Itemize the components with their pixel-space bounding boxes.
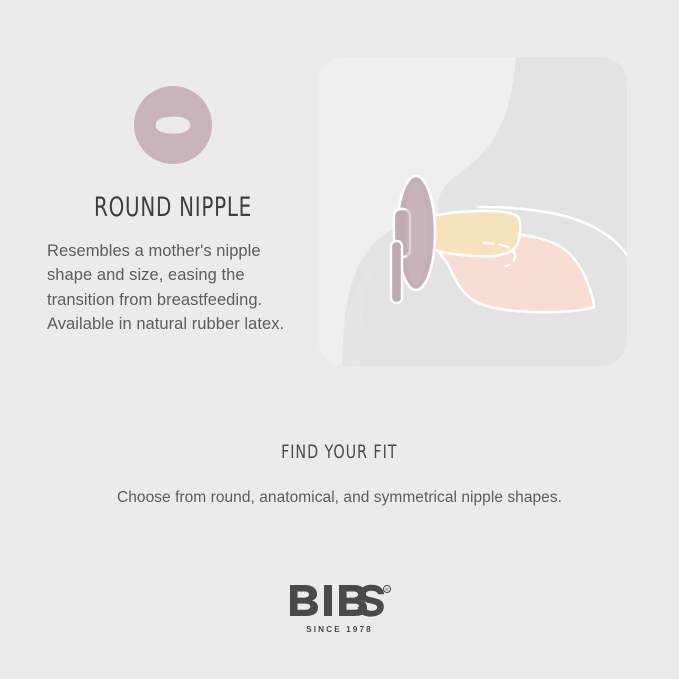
- fit-subtitle: Choose from round, anatomical, and symme…: [0, 487, 679, 509]
- feature-description: Resembles a mother's nipple shape and si…: [47, 239, 299, 336]
- infographic-page: ROUND NIPPLE Resembles a mother's nipple…: [0, 0, 679, 679]
- pacifier-shield-highlight: [405, 183, 427, 283]
- feature-title: ROUND NIPPLE: [70, 194, 277, 221]
- nipple-shape: [429, 211, 520, 256]
- logo-tagline: SINCE 1978: [0, 625, 679, 634]
- fit-title-wrap: FIND YOUR FIT: [0, 443, 679, 463]
- fit-title: FIND YOUR FIT: [281, 443, 397, 462]
- brand-logo: R SINCE 1978: [0, 583, 679, 634]
- bibs-wordmark: R: [288, 583, 392, 617]
- heart-icon: [300, 592, 306, 597]
- round-nipple-cross-section-icon: [133, 85, 213, 165]
- illustration-panel: [318, 57, 627, 366]
- registered-mark-icon: R: [383, 586, 390, 593]
- feature-column: ROUND NIPPLE Resembles a mother's nipple…: [47, 85, 299, 336]
- find-your-fit-section: FIND YOUR FIT Choose from round, anatomi…: [0, 443, 679, 509]
- pacifier-handle: [391, 241, 402, 303]
- baby-head-profile-with-pacifier-illustration: [318, 57, 627, 366]
